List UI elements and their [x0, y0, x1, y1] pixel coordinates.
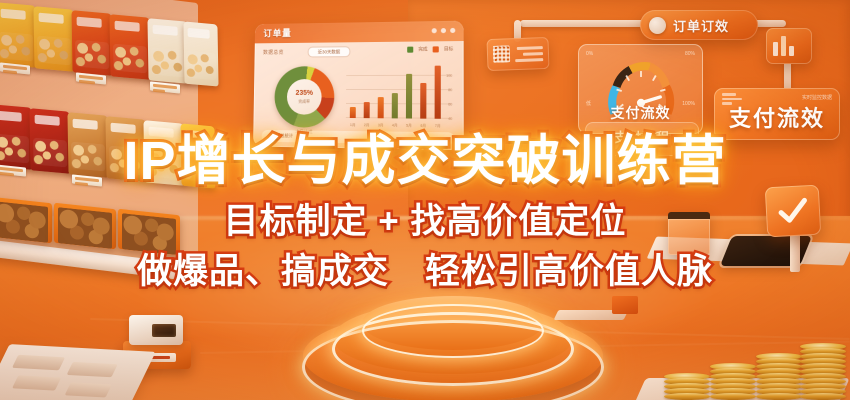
pallet-box: [67, 362, 118, 377]
headline-block: IP增长与成交突破训练营: [0, 134, 850, 188]
bar: [435, 66, 441, 119]
pos-body: [129, 315, 183, 345]
floor-marker: [612, 296, 638, 314]
subtitle-block-2: 做爆品、搞成交 轻松引高价值人脉: [0, 254, 850, 289]
window-controls[interactable]: [432, 28, 456, 33]
bar: [350, 107, 356, 118]
x-axis-tick: 1月: [347, 123, 359, 128]
y-axis-tick: 100: [446, 74, 452, 78]
x-axis-tick: 6月: [417, 124, 429, 129]
qr-code-icon: [493, 45, 511, 63]
pallet-box: [12, 375, 61, 390]
coin-stack: [756, 355, 802, 400]
bar-widget-icon: [773, 42, 778, 56]
chart-legend: 完成 目标: [407, 46, 453, 52]
x-axis-tick: 5月: [403, 124, 415, 129]
payment-efficiency-label: 支付流效: [714, 101, 840, 133]
gauge-min-label: 0%: [586, 51, 593, 57]
donut-center-label: 完成率: [275, 99, 335, 105]
y-axis-tick: 40: [448, 117, 452, 121]
coin-stack: [800, 345, 846, 400]
order-efficiency-label: 订单订效: [673, 16, 729, 35]
pallet-box: [65, 382, 112, 397]
bar-widget-card[interactable]: [766, 28, 812, 64]
order-efficiency-pill[interactable]: 订单订效: [640, 10, 758, 40]
donut-center-value: 235%: [275, 90, 335, 97]
card-line: [517, 46, 543, 50]
pos-screen: [152, 324, 176, 337]
bar: [392, 93, 398, 118]
page-title: IP增长与成交突破训练营: [123, 134, 726, 188]
bar-widget-icon: [789, 46, 794, 56]
shelf-price-tag: [76, 72, 106, 84]
y-axis-tick: 80: [448, 88, 452, 92]
snack-pack: [71, 10, 112, 76]
dashboard-subtitle: 数据总览: [263, 49, 284, 56]
payment-gauge-card[interactable]: 0% 80% 低 100% 支付流效: [578, 44, 703, 134]
card-line: [515, 58, 543, 62]
promo-poster: 订单量 数据总览 近30天数据 完成 目标 235% 完成率 本月达成 100 …: [0, 0, 850, 400]
pallet-box: [12, 355, 65, 371]
x-axis-tick: 2月: [361, 123, 373, 128]
card-line: [523, 52, 543, 56]
snack-pack: [109, 14, 150, 80]
bar-chart: 100 80 60 40 1月 2月 3月 4月 5月 6月 7月: [346, 66, 451, 130]
snack-pack: [183, 21, 218, 86]
legend-label-target: 目标: [444, 46, 453, 52]
pallet-platform: [0, 344, 156, 400]
bar-widget-icon: [781, 36, 786, 56]
legend-label-complete: 完成: [418, 46, 427, 52]
shelf-price-tag: [0, 62, 30, 74]
legend-swatch-complete: [407, 47, 413, 53]
snack-pack: [0, 2, 37, 68]
payment-card-code: 实时监控数据: [802, 94, 832, 101]
donut-chart: 235% 完成率: [274, 66, 334, 128]
bar: [378, 97, 384, 118]
subtitle-line-2: 做爆品、搞成交 轻松引高价值人脉: [137, 254, 713, 289]
snack-pack: [33, 6, 74, 72]
circle-knob-icon: [649, 17, 666, 34]
shelf-price-tag: [150, 81, 180, 93]
gauge-max-label: 80%: [685, 51, 695, 57]
bar: [420, 83, 426, 119]
dashboard-title: 订单量: [263, 26, 291, 39]
x-axis-tick: 4月: [389, 123, 401, 128]
x-axis-tick: 3月: [375, 123, 387, 128]
y-axis-tick: 60: [448, 102, 452, 106]
bar: [406, 74, 412, 119]
subtitle-block-1: 目标制定 + 找高价值定位: [0, 204, 850, 239]
x-axis-tick: 7月: [431, 124, 443, 129]
subtitle-line-1: 目标制定 + 找高价值定位: [224, 204, 627, 239]
connector-pipe: [520, 20, 648, 27]
payment-gauge-label: 支付流效: [579, 103, 702, 123]
date-filter-chip[interactable]: 近30天数据: [308, 46, 351, 57]
legend-swatch-target: [433, 46, 439, 52]
payment-efficiency-card[interactable]: 实时监控数据 支付流效: [714, 88, 840, 140]
qr-code-card[interactable]: [486, 37, 549, 71]
coin-stack: [710, 365, 756, 400]
snack-pack: [147, 18, 188, 84]
podium-glow-inner: [362, 304, 544, 358]
coin-stack: [664, 375, 710, 400]
bar: [364, 102, 370, 118]
